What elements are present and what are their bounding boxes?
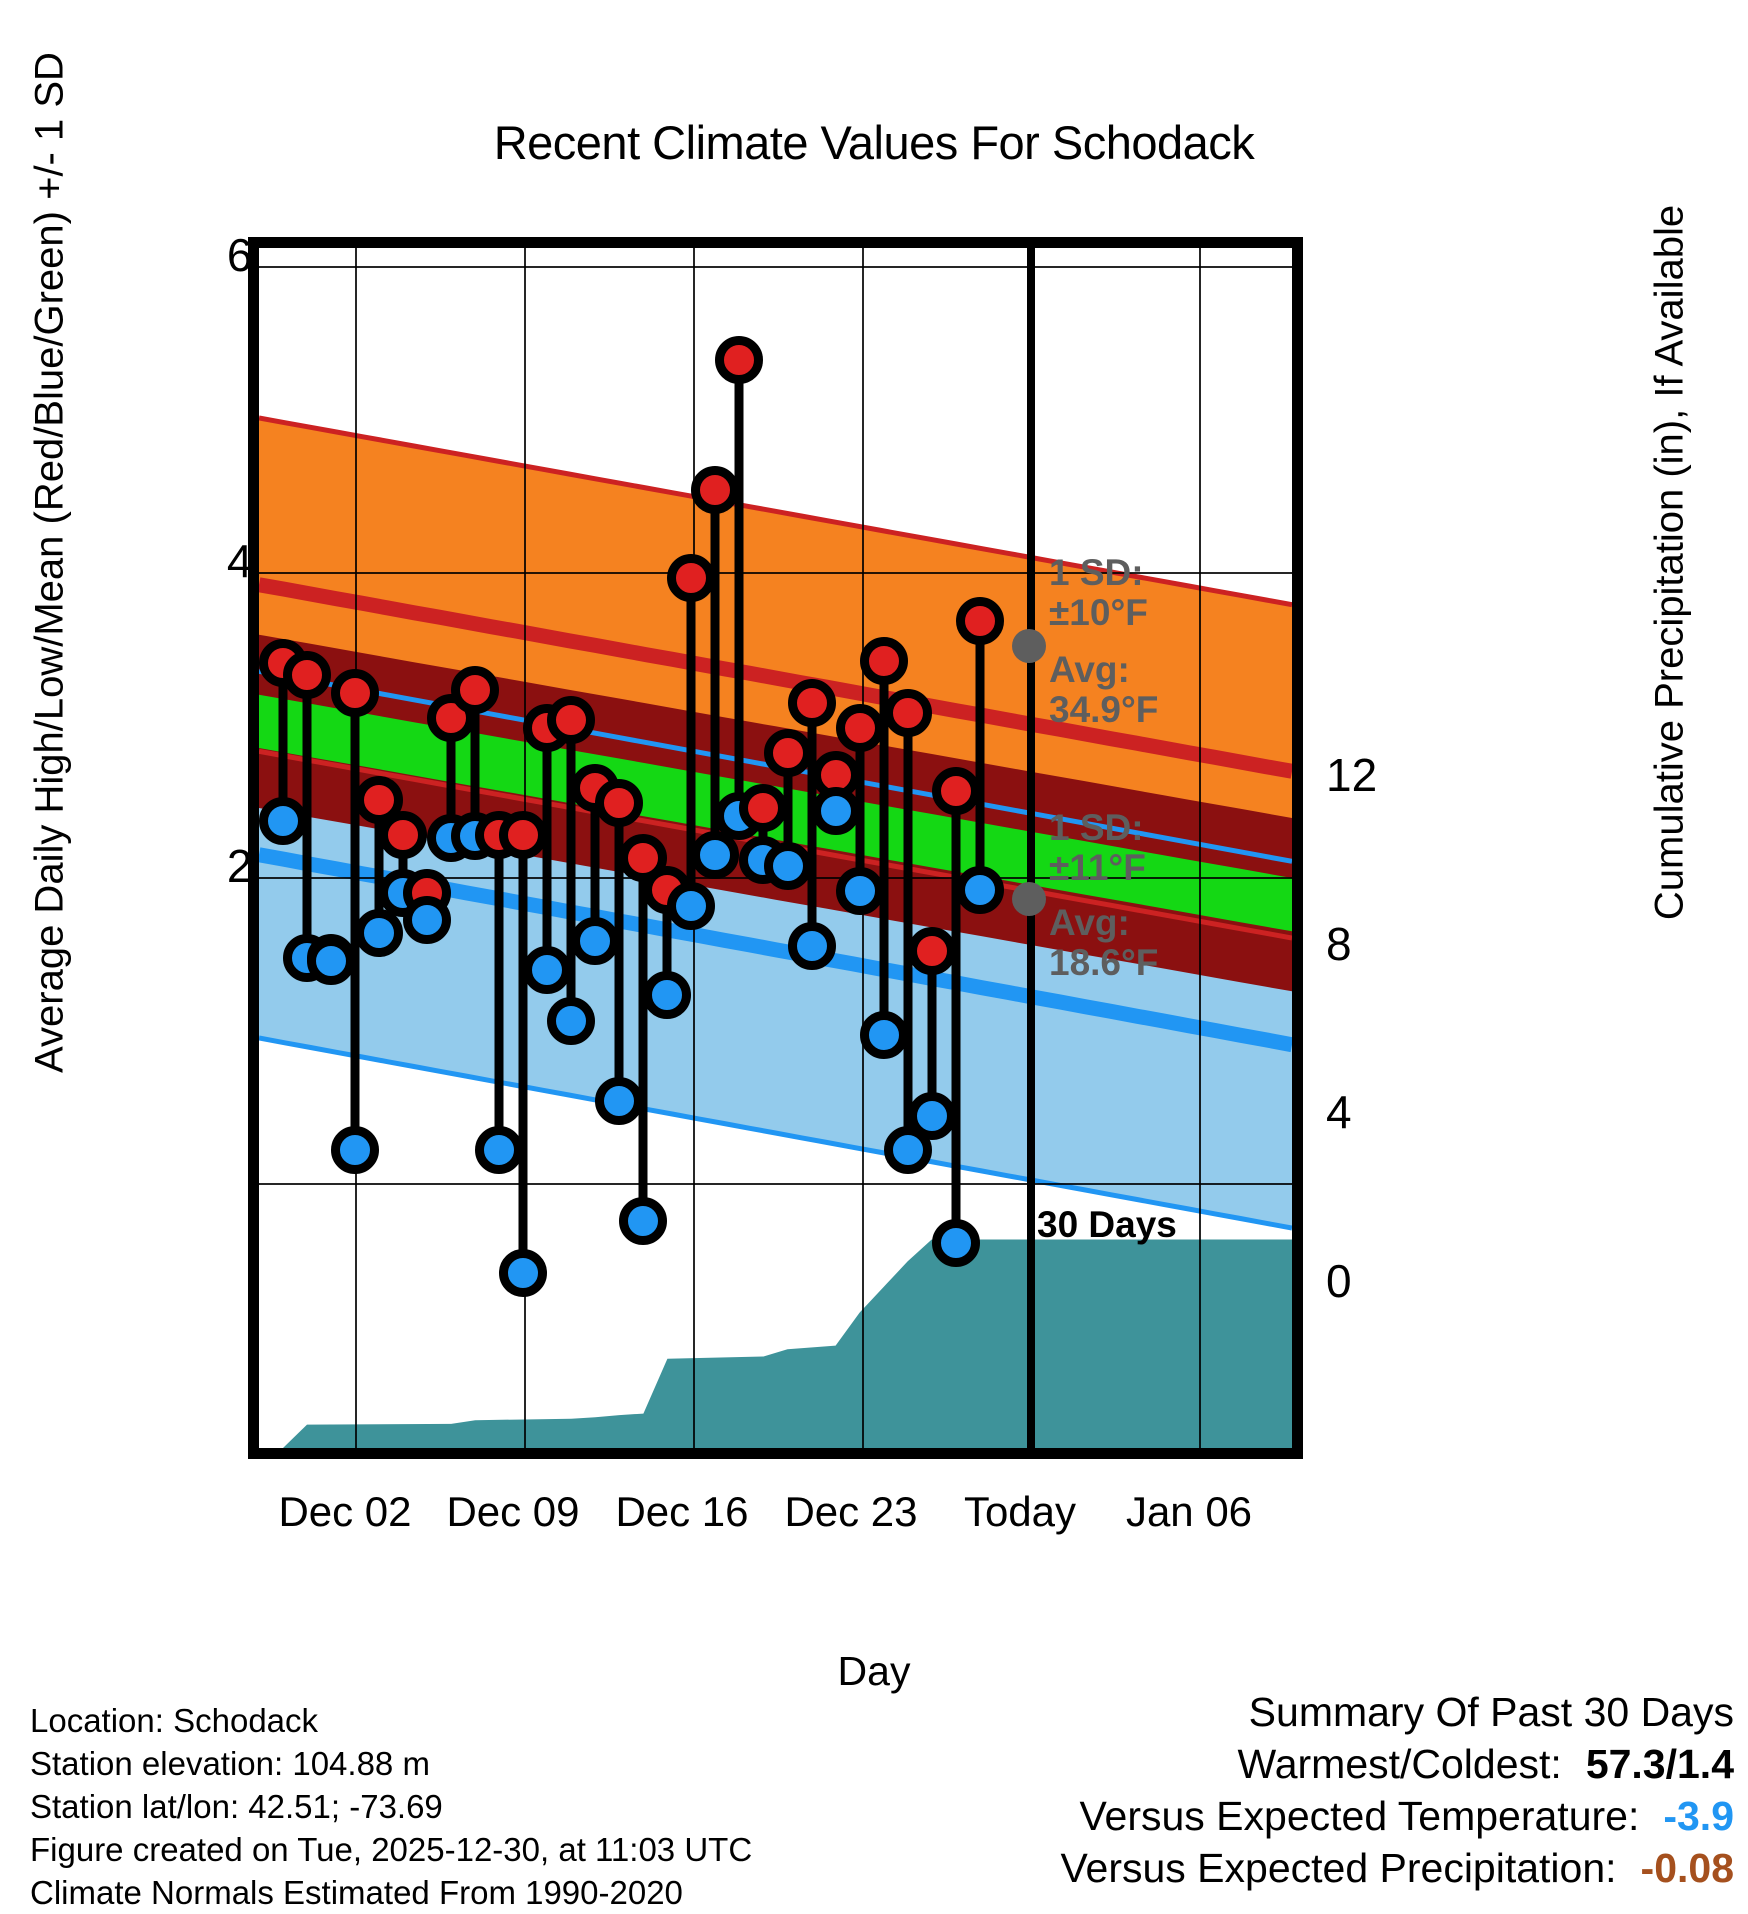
observation-stem: [303, 675, 312, 958]
observation-low-dot: [764, 842, 812, 890]
summary-row-warmest-coldest: Warmest/Coldest:57.3/1.4: [1060, 1738, 1734, 1790]
observation-stem: [975, 621, 984, 889]
summary-heading: Summary Of Past 30 Days: [1060, 1686, 1734, 1738]
summary-row-temperature: Versus Expected Temperature:-3.9: [1060, 1790, 1734, 1842]
observation-stem: [735, 360, 744, 817]
observation-high-dot: [884, 689, 932, 737]
observation-low-dot: [475, 1126, 523, 1174]
gridline-y0: [259, 1183, 1292, 1185]
observation-high-dot: [860, 637, 908, 685]
y-tick-right-0: 0: [1326, 1254, 1526, 1308]
observation-low-dot: [956, 866, 1004, 914]
summary-label-temperature: Versus Expected Temperature:: [1079, 1793, 1639, 1839]
observation-low-dot: [860, 1011, 908, 1059]
observation-high-dot: [379, 811, 427, 859]
observation-low-dot: [355, 909, 403, 957]
observation-low-dot: [908, 1092, 956, 1140]
observation-low-dot: [259, 797, 307, 845]
observation-high-dot: [715, 336, 763, 384]
observation-high-dot: [764, 729, 812, 777]
today-line: [1027, 248, 1035, 1448]
observation-high-dot: [691, 466, 739, 514]
annotation-low-avg: Avg: 18.6°F: [1049, 903, 1158, 983]
observation-low-dot: [523, 946, 571, 994]
metadata-normals: Climate Normals Estimated From 1990-2020: [30, 1872, 752, 1914]
summary-label-warmest-coldest: Warmest/Coldest:: [1238, 1741, 1562, 1787]
observation-low-dot: [571, 917, 619, 965]
observation-low-dot: [499, 1249, 547, 1297]
observation-stem: [543, 728, 552, 970]
metadata-created: Figure created on Tue, 2025-12-30, at 11…: [30, 1829, 752, 1872]
precip-area: [259, 1240, 1292, 1449]
observation-high-dot: [283, 651, 331, 699]
observation-low-dot: [595, 1077, 643, 1125]
observation-low-dot: [619, 1197, 667, 1245]
observation-stem: [711, 490, 720, 855]
observation-low-dot: [643, 971, 691, 1019]
observation-high-dot: [451, 666, 499, 714]
annotation-window: 30 Days: [1037, 1205, 1177, 1246]
observation-low-dot: [932, 1219, 980, 1267]
y-tick-right-8: 8: [1326, 917, 1526, 971]
y-axis-label-right: Cumulative Precipitation (in), If Availa…: [1648, 0, 1693, 1163]
observation-low-dot: [812, 787, 860, 835]
summary-label-precipitation: Versus Expected Precipitation:: [1060, 1845, 1616, 1891]
observation-high-dot: [739, 784, 787, 832]
summary-value-temperature: -3.9: [1663, 1793, 1734, 1839]
y-axis-label-left: Average Daily High/Low/Mean (Red/Blue/Gr…: [28, 0, 73, 1213]
gridline-jan-06: [1199, 248, 1201, 1448]
high-avg-marker: [1012, 629, 1046, 663]
summary-value-warmest-coldest: 57.3/1.4: [1586, 1741, 1734, 1787]
observation-stem: [951, 791, 960, 1243]
summary-value-precipitation: -0.08: [1641, 1845, 1734, 1891]
page-title: Recent Climate Values For Schodack: [0, 115, 1748, 170]
low-avg-marker: [1012, 882, 1046, 916]
gridline-y60: [259, 266, 1292, 268]
observation-low-dot: [403, 896, 451, 944]
y-tick-right-4: 4: [1326, 1085, 1526, 1139]
annotation-low-sd: 1 SD: ±11°F: [1049, 808, 1146, 888]
observation-high-dot: [908, 927, 956, 975]
plot-inner: 1 SD: ±10°F Avg: 34.9°F 1 SD: ±11°F Avg:…: [259, 248, 1292, 1448]
metadata-elevation: Station elevation: 104.88 m: [30, 1743, 752, 1786]
y-tick-right-12: 12: [1326, 748, 1526, 802]
observation-low-dot: [836, 867, 884, 915]
observation-stem: [567, 720, 576, 1022]
observation-stem: [495, 835, 504, 1150]
observation-high-dot: [788, 679, 836, 727]
summary-block: Summary Of Past 30 Days Warmest/Coldest:…: [1060, 1686, 1734, 1894]
observation-low-dot: [788, 922, 836, 970]
summary-row-precipitation: Versus Expected Precipitation:-0.08: [1060, 1842, 1734, 1894]
observation-stem: [903, 713, 912, 1150]
observation-high-dot: [956, 597, 1004, 645]
observation-high-dot: [499, 811, 547, 859]
observation-stem: [519, 835, 528, 1273]
observation-high-dot: [667, 554, 715, 602]
observation-stem: [639, 858, 648, 1221]
observation-high-dot: [595, 779, 643, 827]
observation-high-dot: [331, 669, 379, 717]
observation-low-dot: [667, 882, 715, 930]
metadata-location: Location: Schodack: [30, 1700, 752, 1743]
observation-high-dot: [836, 704, 884, 752]
observation-high-dot: [547, 696, 595, 744]
plot-area[interactable]: 1 SD: ±10°F Avg: 34.9°F 1 SD: ±11°F Avg:…: [248, 237, 1303, 1459]
metadata-latlon: Station lat/lon: 42.51; -73.69: [30, 1786, 752, 1829]
annotation-high-sd: 1 SD: ±10°F: [1049, 553, 1148, 633]
metadata-block: Location: Schodack Station elevation: 10…: [30, 1700, 752, 1914]
observation-low-dot: [547, 997, 595, 1045]
figure-canvas: Recent Climate Values For Schodack Avera…: [0, 0, 1748, 1828]
annotation-high-avg: Avg: 34.9°F: [1049, 650, 1158, 730]
observation-high-dot: [932, 767, 980, 815]
observation-low-dot: [331, 1126, 379, 1174]
x-tick-jan-06: Jan 06: [1029, 1488, 1349, 1536]
observation-low-dot: [307, 937, 355, 985]
